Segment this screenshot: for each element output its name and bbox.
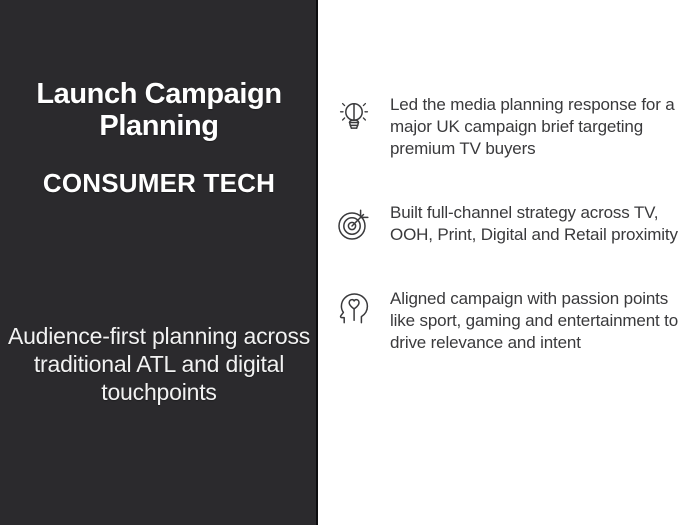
bullet-list: Led the media planning response for a ma… [334, 94, 684, 354]
slide-container: Launch Campaign Planning CONSUMER TECH A… [0, 0, 700, 525]
list-item: Aligned campaign with passion points lik… [334, 288, 684, 354]
lightbulb-icon [334, 96, 374, 136]
right-content-panel: Led the media planning response for a ma… [318, 0, 700, 525]
bullet-text: Aligned campaign with passion points lik… [390, 288, 684, 354]
bullet-text: Built full-channel strategy across TV, O… [390, 202, 684, 246]
title-block: Launch Campaign Planning [6, 78, 312, 142]
head-heart-icon [334, 290, 374, 330]
client-name: CONSUMER TECH [6, 168, 312, 199]
list-item: Led the media planning response for a ma… [334, 94, 684, 160]
target-arrow-icon [334, 204, 374, 244]
bullet-text: Led the media planning response for a ma… [390, 94, 684, 160]
page-title: Launch Campaign Planning [6, 78, 312, 142]
left-title-panel: Launch Campaign Planning CONSUMER TECH A… [0, 0, 318, 525]
summary-text: Audience-first planning across tradition… [6, 322, 312, 406]
list-item: Built full-channel strategy across TV, O… [334, 202, 684, 246]
summary-block: Audience-first planning across tradition… [6, 322, 312, 406]
client-block: CONSUMER TECH [6, 168, 312, 199]
